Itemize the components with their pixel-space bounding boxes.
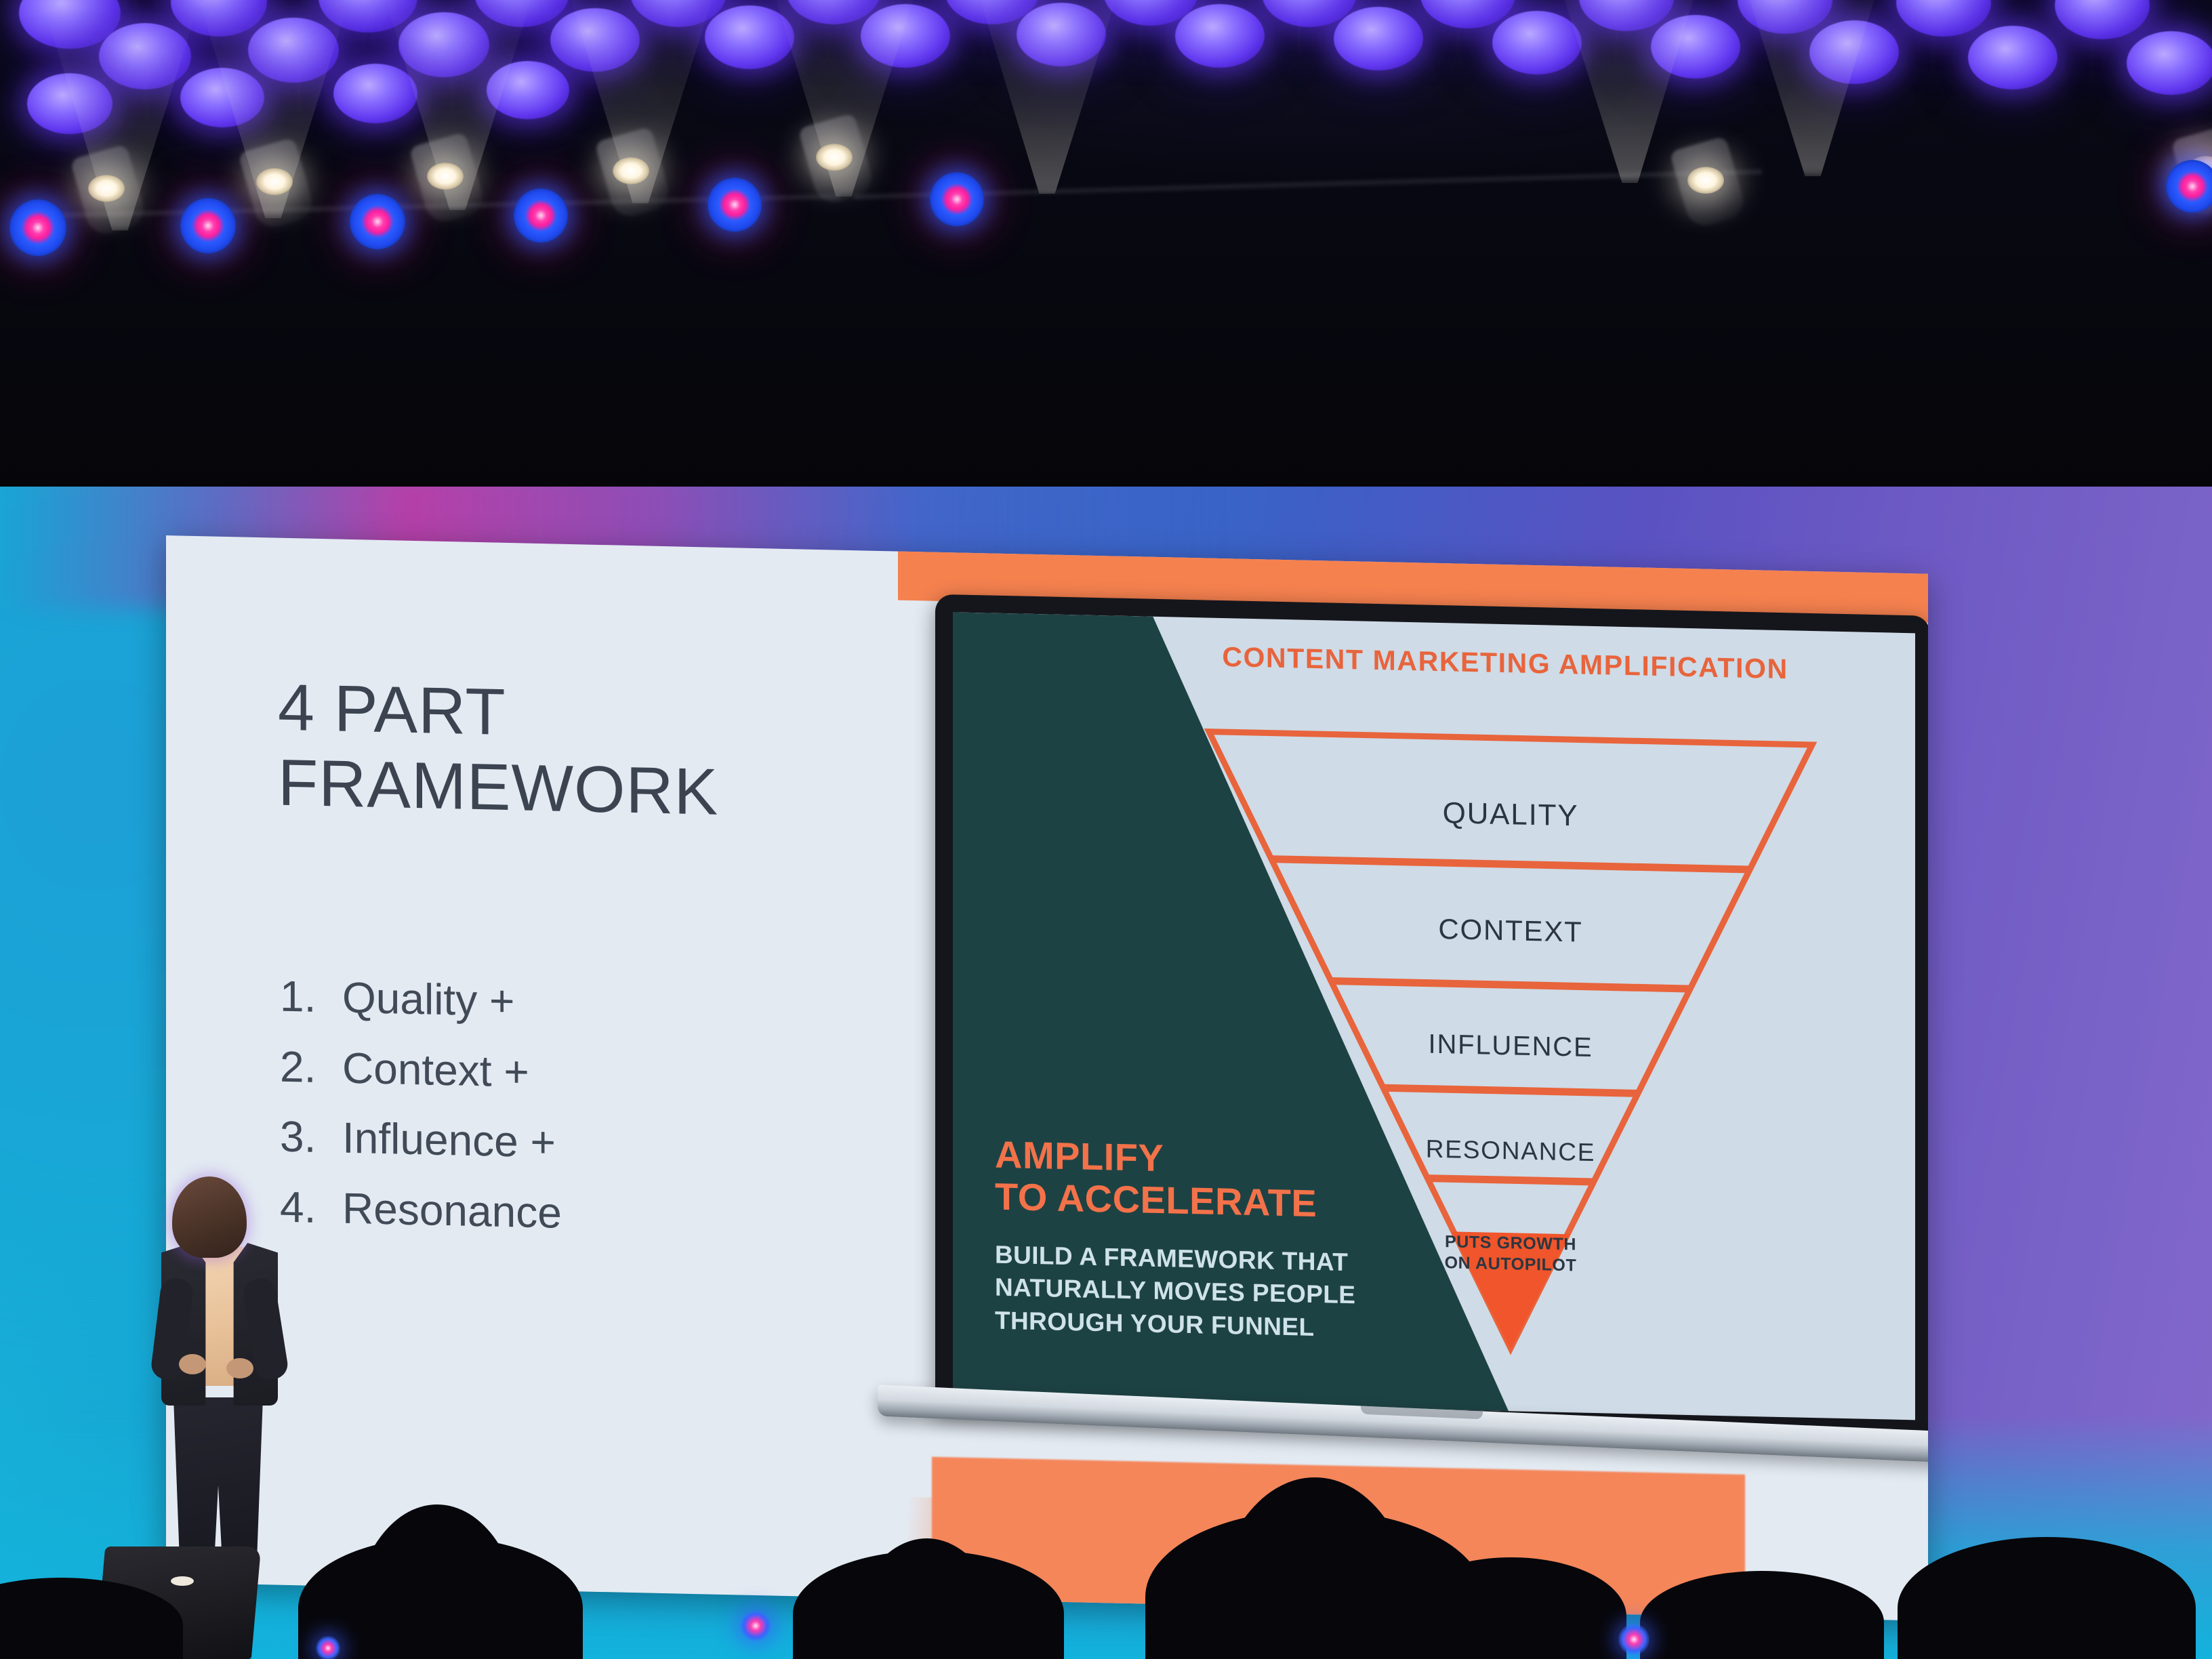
pendant-light xyxy=(27,73,112,134)
list-item-label: Resonance xyxy=(342,1174,562,1249)
list-item-number: 1. xyxy=(280,962,319,1033)
pendant-light xyxy=(487,61,569,119)
pendant-light xyxy=(1809,20,1899,84)
speaker-hand-left xyxy=(179,1354,206,1374)
list-item-number: 3. xyxy=(280,1102,319,1173)
pendant-light xyxy=(1492,11,1582,75)
list-item: 1. Quality + xyxy=(280,962,562,1038)
ring-light xyxy=(350,194,405,249)
list-item-label: Influence + xyxy=(342,1103,556,1179)
spotlight-icon xyxy=(613,157,649,184)
spotlight-icon xyxy=(427,163,464,190)
pendant-light xyxy=(1334,7,1423,70)
pendant-light xyxy=(99,23,191,89)
stage-monitor-led xyxy=(171,1576,194,1586)
floor-ring-light xyxy=(740,1610,771,1641)
pendant-light xyxy=(398,12,489,77)
spotlight-icon xyxy=(816,144,853,171)
pendant-light xyxy=(180,68,264,127)
ring-light xyxy=(9,199,66,256)
ring-light xyxy=(514,188,568,243)
funnel-chart: QUALITY CONTEXT INFLUENCE RESONANCE PUTS… xyxy=(1168,690,1853,1389)
slide-title: 4 PART FRAMEWORK xyxy=(278,670,718,829)
speaker-person xyxy=(146,1176,289,1590)
pendant-light xyxy=(1017,3,1106,66)
spotlight-icon xyxy=(256,168,293,195)
laptop-screen: AMPLIFY TO ACCELERATE BUILD A FRAMEWORK … xyxy=(953,612,1915,1420)
pendant-light xyxy=(2127,31,2212,95)
venue-ceiling xyxy=(0,0,2212,529)
slide-bullet-list: 1. Quality + 2. Context + 3. Influence +… xyxy=(280,962,562,1249)
presentation-slide: 4 PART FRAMEWORK 1. Quality + 2. Context… xyxy=(166,535,1928,1621)
floor-ring-light xyxy=(1618,1624,1650,1655)
pendant-light xyxy=(1968,26,2057,89)
pendant-light xyxy=(333,64,417,123)
ring-light xyxy=(180,198,236,253)
pendant-light xyxy=(705,5,794,69)
speaker-hair xyxy=(172,1176,247,1258)
list-item: 2. Context + xyxy=(280,1031,562,1108)
pendant-light xyxy=(550,8,640,72)
pendant-light xyxy=(861,4,950,68)
spotlight-icon xyxy=(1687,167,1724,194)
list-item-number: 2. xyxy=(280,1031,319,1103)
pendant-light xyxy=(1175,4,1265,68)
ring-light xyxy=(2166,160,2212,213)
list-item: 3. Influence + xyxy=(280,1102,562,1179)
floor-ring-light xyxy=(316,1636,340,1659)
list-item-label: Quality + xyxy=(342,963,514,1037)
conference-stage-photo: 4 PART FRAMEWORK 1. Quality + 2. Context… xyxy=(0,0,2212,1659)
laptop-mockup: AMPLIFY TO ACCELERATE BUILD A FRAMEWORK … xyxy=(935,594,1928,1433)
spotlight-icon xyxy=(88,175,125,202)
list-item: 4. Resonance xyxy=(280,1172,562,1249)
list-item-label: Context + xyxy=(342,1033,529,1107)
ring-light xyxy=(708,178,762,232)
speaker-hand-right xyxy=(226,1358,253,1378)
ring-light xyxy=(930,172,984,226)
pendant-light xyxy=(248,18,339,83)
pendant-light xyxy=(1651,15,1740,79)
